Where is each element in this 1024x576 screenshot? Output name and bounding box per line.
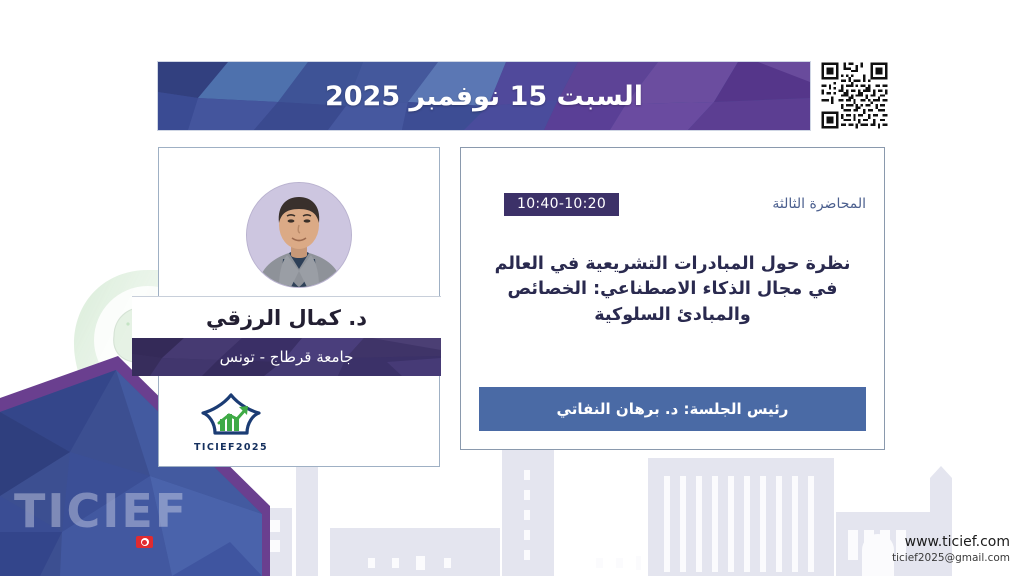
session-time-badge: 10:40-10:20 (504, 193, 619, 216)
banner-date-text: السبت 15 نوفمبر 2025 (325, 81, 643, 112)
speaker-name: د. كمال الرزقي (206, 306, 367, 330)
ticief-logo: TICIEF2025 (189, 393, 273, 451)
session-title-line-1: نظرة حول المبادرات التشريعية في العالم (485, 252, 860, 277)
flag-crescent (141, 538, 149, 546)
contact-website[interactable]: www.ticief.com (892, 534, 1010, 552)
speaker-name-strip: د. كمال الرزقي (132, 296, 441, 340)
session-card: المحاضرة الثالثة 10:40-10:20 نظرة حول ال… (460, 147, 885, 450)
ticief-watermark: TICIEF (14, 484, 188, 538)
session-title-line-3: والمبادئ السلوكية (485, 303, 860, 328)
ticief-logo-text: TICIEF2025 (189, 442, 273, 453)
ticief-logo-mark (189, 393, 273, 437)
tunisia-flag-badge (136, 536, 153, 548)
lecture-number-label: المحاضرة الثالثة (772, 196, 866, 212)
speaker-affiliation: جامعة قرطاج - تونس (220, 348, 354, 366)
session-chair-text: رئيس الجلسة: د. برهان النفاتي (557, 400, 789, 418)
speaker-portrait (246, 182, 352, 288)
session-title-line-2: في مجال الذكاء الاصطناعي: الخصائص (485, 277, 860, 302)
speaker-affiliation-strip: جامعة قرطاج - تونس (132, 338, 441, 376)
slide-canvas: TICIEF (0, 0, 1024, 576)
date-banner: السبت 15 نوفمبر 2025 (157, 61, 811, 131)
contact-email[interactable]: ticief2025@gmail.com (892, 552, 1010, 565)
speaker-card: د. كمال الرزقي جامعة قرطاج - تونس (158, 147, 440, 467)
qr-code-icon[interactable] (819, 60, 890, 131)
session-title: نظرة حول المبادرات التشريعية في العالم ف… (485, 252, 860, 328)
session-chair-bar: رئيس الجلسة: د. برهان النفاتي (479, 387, 866, 431)
contact-info: www.ticief.com ticief2025@gmail.com (892, 534, 1010, 565)
